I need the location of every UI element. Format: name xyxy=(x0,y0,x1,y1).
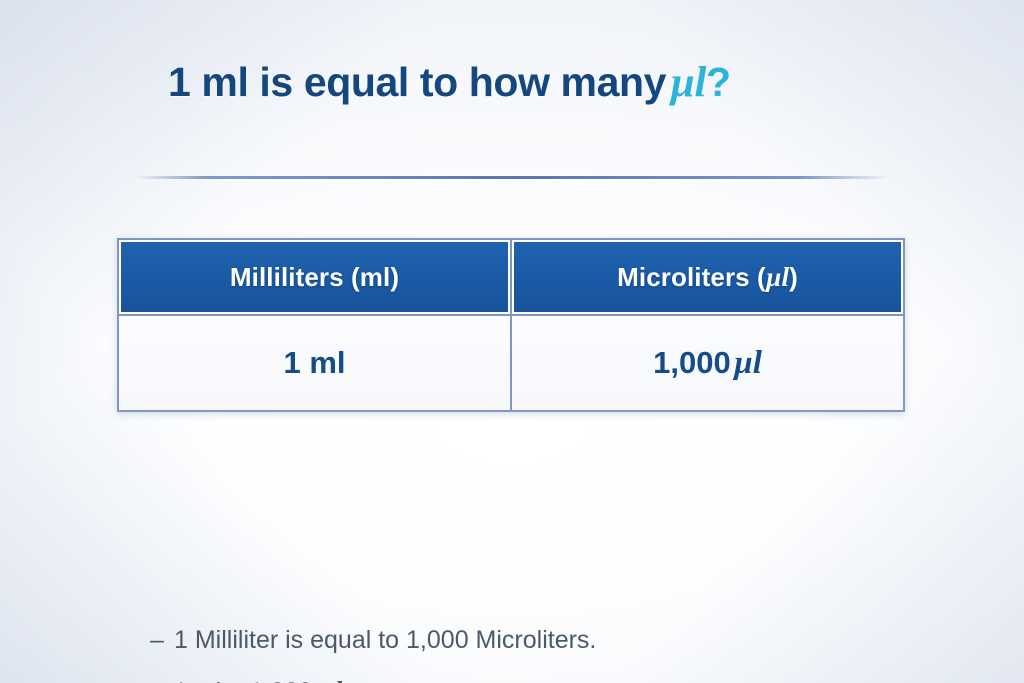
microliters-value-label: 1,000 xyxy=(653,345,731,380)
list-item: – 1 ml = 1,000 µl. xyxy=(150,678,910,683)
column-header-milliliters: Milliliters (ml) xyxy=(118,239,511,315)
column-header-microliters-prefix: Microliters ( xyxy=(617,262,766,292)
page-title-question-mark: ? xyxy=(706,59,731,105)
list-item: – 1 Milliliter is equal to 1,000 Microli… xyxy=(150,626,910,653)
title-divider-rule xyxy=(136,176,890,179)
table-body: 1 ml 1,000µl xyxy=(118,315,904,411)
cell-microliters-value: 1,000µl xyxy=(511,315,904,411)
table-header-row: Milliliters (ml) Microliters (µl) xyxy=(118,239,904,315)
explanation-list: – 1 Milliliter is equal to 1,000 Microli… xyxy=(150,626,910,683)
column-header-milliliters-label: Milliliters (ml) xyxy=(230,262,399,292)
page-title-lead: 1 ml is equal to how many xyxy=(168,59,666,105)
column-header-microliters-unit: µl xyxy=(766,262,789,292)
table-header: Milliliters (ml) Microliters (µl) xyxy=(118,239,904,315)
page-title-unit-microliter: µl xyxy=(666,59,706,106)
column-header-microliters-suffix: ) xyxy=(789,262,798,292)
bullet-dash-icon: – xyxy=(150,628,174,653)
cell-milliliters-value: 1 ml xyxy=(118,315,511,411)
page-title: 1 ml is equal to how manyµl? xyxy=(168,58,1024,107)
slide-canvas: 1 ml is equal to how manyµl? Milliliters… xyxy=(0,0,1024,683)
list-item-text-prefix: 1 ml = 1,000 xyxy=(174,678,319,683)
conversion-table-container: Milliliters (ml) Microliters (µl) 1 ml 1… xyxy=(117,238,905,412)
column-header-microliters: Microliters (µl) xyxy=(511,239,904,315)
conversion-table: Milliliters (ml) Microliters (µl) 1 ml 1… xyxy=(117,238,905,412)
list-item-text-suffix: . xyxy=(342,678,349,683)
list-item-text: 1 ml = 1,000 µl. xyxy=(174,678,349,683)
milliliters-value-label: 1 ml xyxy=(283,345,345,380)
microliters-value-unit: µl xyxy=(731,345,762,381)
list-item-text-unit: µl xyxy=(319,676,342,683)
table-row: 1 ml 1,000µl xyxy=(118,315,904,411)
list-item-text: 1 Milliliter is equal to 1,000 Microlite… xyxy=(174,626,596,653)
list-item-text-prefix: 1 Milliliter is equal to 1,000 Microlite… xyxy=(174,626,596,654)
